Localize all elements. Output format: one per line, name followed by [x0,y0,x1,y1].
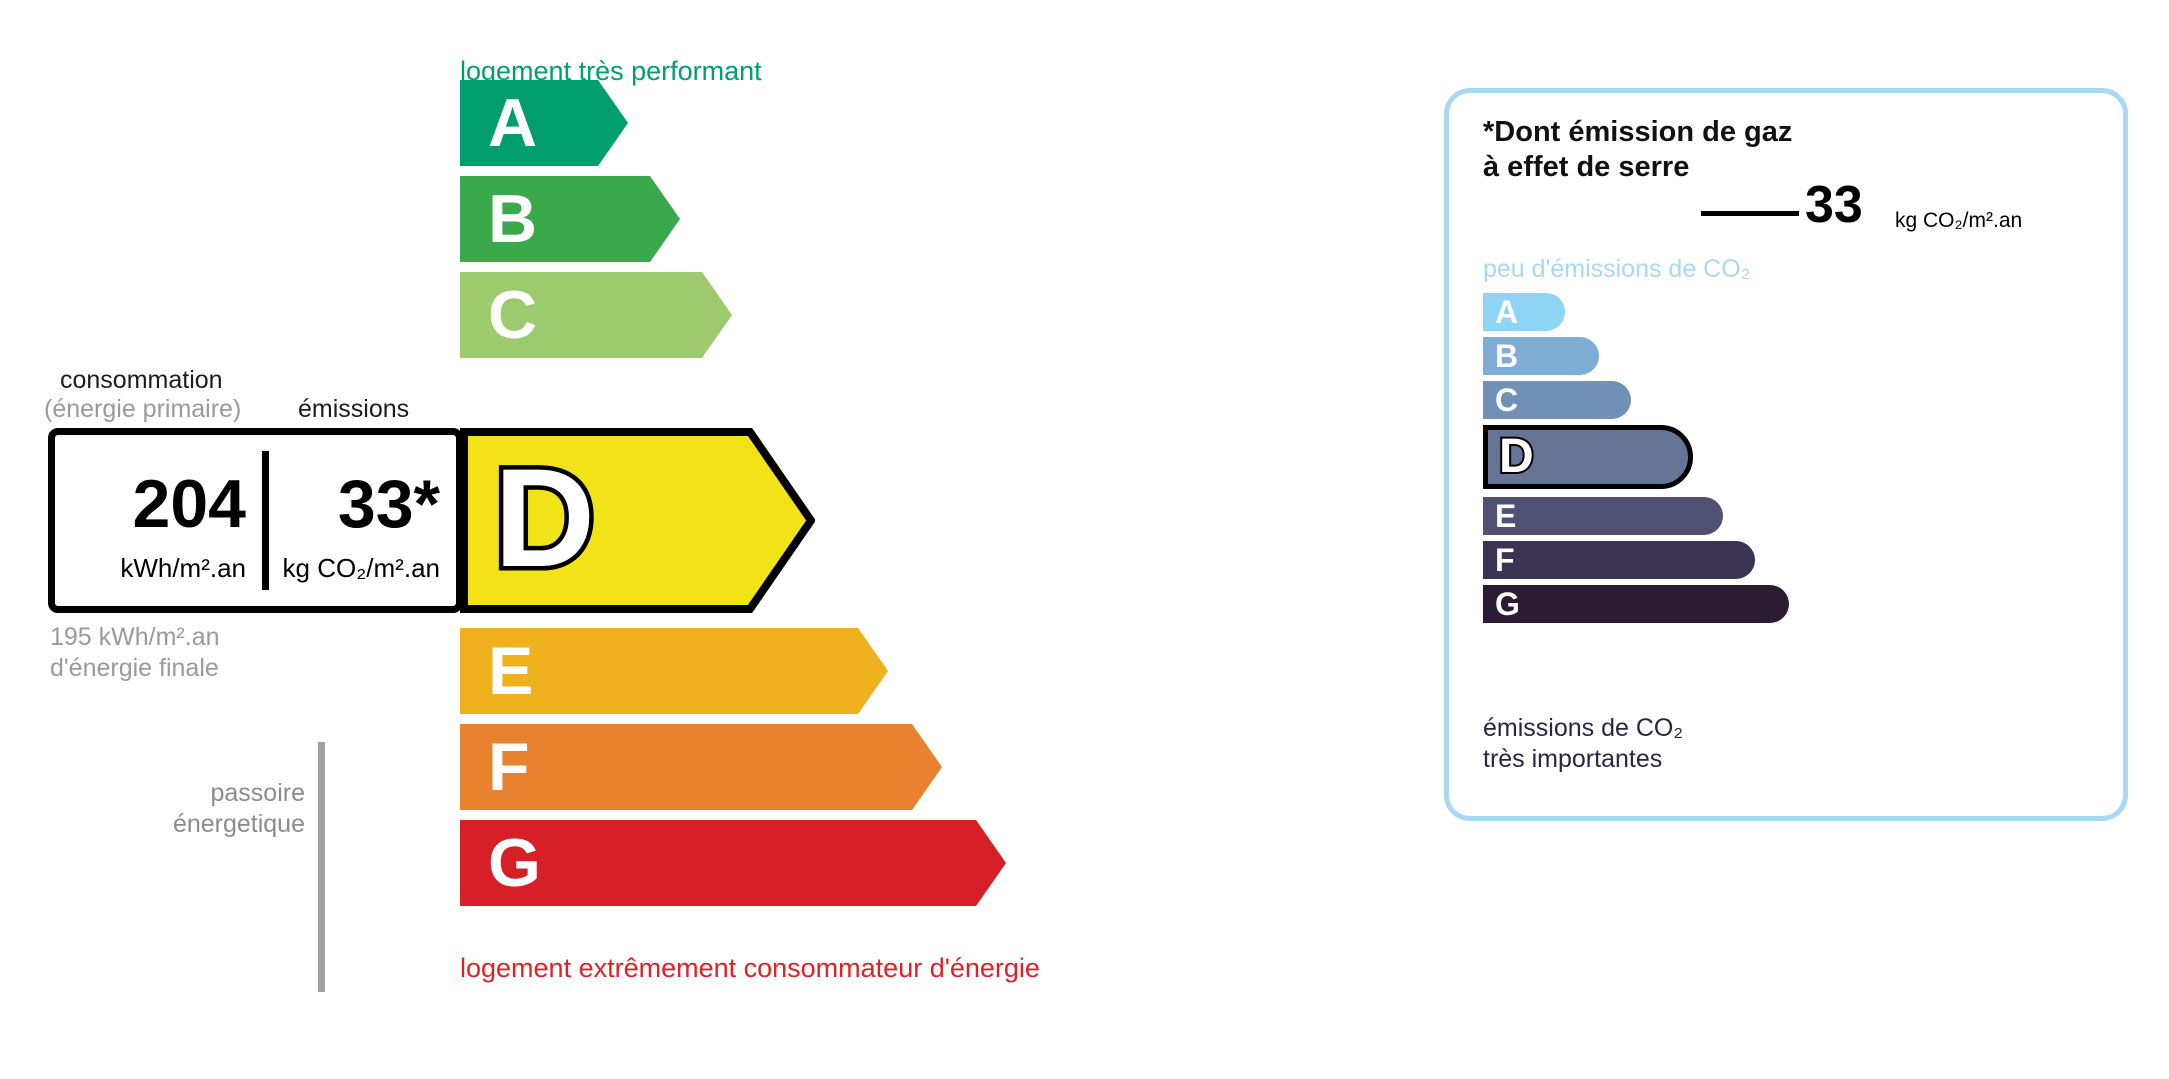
co2-band-letter: C [1495,384,1518,416]
co2-band-letter: D [1499,433,1534,481]
band-letter-outline: D [488,450,618,592]
energy-unit: kWh/m².an [55,553,246,584]
co2-band-pill [1483,541,1755,579]
energy-scale: logement très performant A B C [0,0,1400,1079]
band-letter: B [488,185,537,253]
dpe-diagram: logement très performant A B C [0,0,2169,1079]
co2-panel-title: *Dont émission de gaz à effet de serre [1483,115,1792,185]
label-emissions: émissions [298,395,409,424]
co2-band-letter: F [1495,544,1515,576]
final-energy-note: 195 kWh/m².an d'énergie finale [50,622,220,683]
co2-band-letter: E [1495,500,1516,532]
co2-unit: kg CO₂/m².an [269,553,440,584]
energy-value: 204 [55,470,246,538]
label-consumption: consommation [60,366,223,395]
co2-caption-bottom: émissions de CO₂ très importantes [1483,713,1683,774]
co2-band-f[interactable]: F [1483,541,1755,579]
co2-caption-top: peu d'émissions de CO₂ [1483,255,1750,284]
co2-band-letter: G [1495,588,1520,620]
band-arrow-shape [460,820,1006,906]
co2-leader-line [1701,211,1799,216]
co2-value: 33* [269,470,440,538]
energy-band-e[interactable]: E [460,628,888,714]
co2-band-d-selected[interactable]: D [1483,425,1693,489]
band-letter: E [488,637,533,705]
band-letter: G [488,829,541,897]
co2-band-letter: B [1495,340,1518,372]
co2-callout-unit: kg CO₂/m².an [1895,209,2022,233]
co2-callout-value: 33 [1805,179,1863,231]
passoire-label: passoire énergetique [120,778,305,839]
energy-band-b[interactable]: B [460,176,680,262]
co2-band-b[interactable]: B [1483,337,1599,375]
energy-band-a[interactable]: A [460,80,628,166]
energy-band-d-selected[interactable]: D [460,428,815,613]
label-consumption-sub: (énergie primaire) [44,395,241,424]
co2-band-c[interactable]: C [1483,381,1631,419]
energy-band-g[interactable]: G [460,820,1006,906]
co2-band-letter: A [1495,296,1518,328]
value-box: 204 kWh/m².an 33* kg CO₂/m².an [48,428,463,613]
band-arrow-shape [460,80,628,166]
energy-value-cell: 204 kWh/m².an [55,435,262,606]
value-box-divider [262,451,269,590]
co2-value-cell: 33* kg CO₂/m².an [269,435,456,606]
scale-caption-bottom: logement extrêmement consommateur d'éner… [460,953,1040,984]
band-letter: C [488,281,537,349]
co2-band-pill [1483,585,1789,623]
passoire-marker-bar [318,742,325,992]
band-arrow-shape [460,724,942,810]
energy-band-f[interactable]: F [460,724,942,810]
co2-band-e[interactable]: E [1483,497,1723,535]
co2-band-a[interactable]: A [1483,293,1565,331]
co2-band-pill [1483,497,1723,535]
co2-panel: *Dont émission de gaz à effet de serre p… [1444,88,2128,821]
co2-band-g[interactable]: G [1483,585,1789,623]
band-letter: A [488,89,537,157]
band-letter: F [488,733,530,801]
svg-text:D: D [494,450,595,592]
energy-band-c[interactable]: C [460,272,732,358]
